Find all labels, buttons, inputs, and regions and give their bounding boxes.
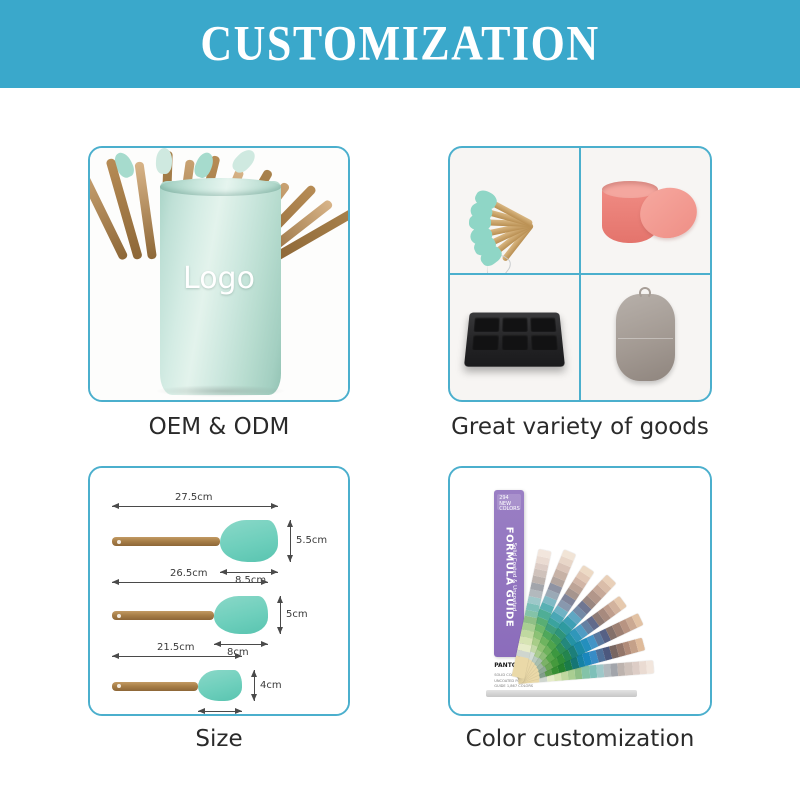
tray-cavity bbox=[501, 334, 528, 350]
ice-cube-tray bbox=[464, 312, 566, 366]
dimension-arrow-down bbox=[251, 694, 257, 701]
guide-spine: 294 NEW COLORS FORMULA GUIDE Solid Coate… bbox=[494, 490, 524, 657]
dimension-arrow-up bbox=[277, 596, 283, 603]
dimension-label-height: 5.5cm bbox=[296, 535, 327, 546]
dimension-line-length bbox=[112, 656, 242, 657]
mat-hanging-loop-icon bbox=[639, 287, 651, 299]
oval-silicone-mat bbox=[616, 294, 675, 382]
dimension-arrow-left bbox=[198, 708, 205, 714]
dimension-arrow-right bbox=[261, 579, 268, 585]
tray-cavity bbox=[530, 317, 556, 331]
panel-size[interactable]: 27.5cm5.5cm8.5cm26.5cm5cm8cm21.5cm4cm6.5… bbox=[88, 466, 350, 716]
dimension-arrow-left bbox=[220, 569, 227, 575]
tray-cavities bbox=[471, 317, 557, 350]
spatula-handle bbox=[112, 682, 198, 691]
panel-great-variety[interactable] bbox=[448, 146, 712, 402]
guide-subtitle: Solid Coated & Uncoated bbox=[511, 543, 517, 612]
dimension-label-length: 21.5cm bbox=[157, 642, 195, 653]
page-title: CUSTOMIZATION bbox=[200, 19, 599, 68]
color-chip bbox=[645, 661, 653, 675]
utensil-crock-image: Logo bbox=[90, 148, 348, 400]
tray-cavity bbox=[502, 317, 528, 331]
logo-placeholder-text: Logo bbox=[90, 261, 348, 296]
dimension-line-width bbox=[214, 644, 268, 645]
panel-color-customization[interactable]: 294 NEW COLORS FORMULA GUIDE Solid Coate… bbox=[448, 466, 712, 716]
infographic-page: CUSTOMIZATION Logo OEM & ODM bbox=[0, 0, 800, 800]
header-banner: CUSTOMIZATION bbox=[0, 0, 800, 88]
dimension-arrow-right bbox=[271, 503, 278, 509]
panel-label-oem-odm: OEM & ODM bbox=[88, 414, 350, 440]
product-cell-oval-mat bbox=[581, 275, 710, 400]
panel-label-great-variety: Great variety of goods bbox=[430, 414, 730, 440]
spatula-head bbox=[214, 596, 268, 634]
spatula-handle bbox=[112, 611, 214, 620]
utensil-set-image bbox=[450, 148, 579, 273]
dimension-line-length bbox=[112, 506, 278, 507]
dimension-arrow-right bbox=[261, 641, 268, 647]
badge-caption: NEW COLORS bbox=[499, 502, 519, 511]
product-cell-round-container bbox=[581, 148, 710, 273]
dimension-label-length: 27.5cm bbox=[175, 492, 213, 503]
dimension-line-width bbox=[220, 572, 278, 573]
dimension-label-length: 26.5cm bbox=[170, 568, 208, 579]
product-cell-ice-tray bbox=[450, 275, 579, 400]
dimension-label-height: 5cm bbox=[286, 609, 308, 620]
size-diagram: 27.5cm5.5cm8.5cm26.5cm5cm8cm21.5cm4cm6.5… bbox=[90, 468, 348, 714]
product-grid bbox=[450, 148, 710, 400]
tray-cavity bbox=[473, 317, 499, 331]
dimension-arrow-left bbox=[214, 641, 221, 647]
fan-blades bbox=[450, 468, 710, 714]
spatula-hang-hole bbox=[117, 540, 121, 544]
dimension-arrow-down bbox=[277, 627, 283, 634]
dimension-arrow-up bbox=[251, 670, 257, 677]
panel-label-size: Size bbox=[88, 726, 350, 752]
panel-label-color-customization: Color customization bbox=[430, 726, 730, 752]
crock-rim bbox=[160, 178, 281, 196]
dimension-arrow-right bbox=[235, 653, 242, 659]
spatula-hang-hole bbox=[117, 614, 121, 618]
crock-shadow bbox=[155, 385, 287, 398]
dimension-arrow-left bbox=[112, 653, 119, 659]
dimension-arrow-left bbox=[112, 579, 119, 585]
deck-base bbox=[486, 690, 637, 697]
dimension-arrow-down bbox=[287, 555, 293, 562]
dimension-label-width: 6.5cm bbox=[206, 714, 237, 716]
panel-oem-odm[interactable]: Logo bbox=[88, 146, 350, 402]
new-colors-badge: 294 NEW COLORS bbox=[497, 494, 521, 510]
tray-cavity bbox=[471, 334, 498, 350]
dimension-arrow-right bbox=[271, 569, 278, 575]
spatula-hang-hole bbox=[117, 684, 121, 688]
dimension-arrow-left bbox=[112, 503, 119, 509]
pantone-fan-deck-image: 294 NEW COLORS FORMULA GUIDE Solid Coate… bbox=[450, 468, 710, 714]
utensil-head bbox=[156, 148, 173, 175]
mat-seam bbox=[618, 338, 673, 340]
product-cell-utensil-set bbox=[450, 148, 579, 273]
tray-cavity bbox=[530, 334, 557, 350]
spatula-head bbox=[220, 520, 278, 562]
spatula-handle bbox=[112, 537, 220, 546]
spatula-head bbox=[198, 670, 242, 701]
dimension-arrow-up bbox=[287, 520, 293, 527]
dimension-line-length bbox=[112, 582, 268, 583]
dimension-label-height: 4cm bbox=[260, 680, 282, 691]
